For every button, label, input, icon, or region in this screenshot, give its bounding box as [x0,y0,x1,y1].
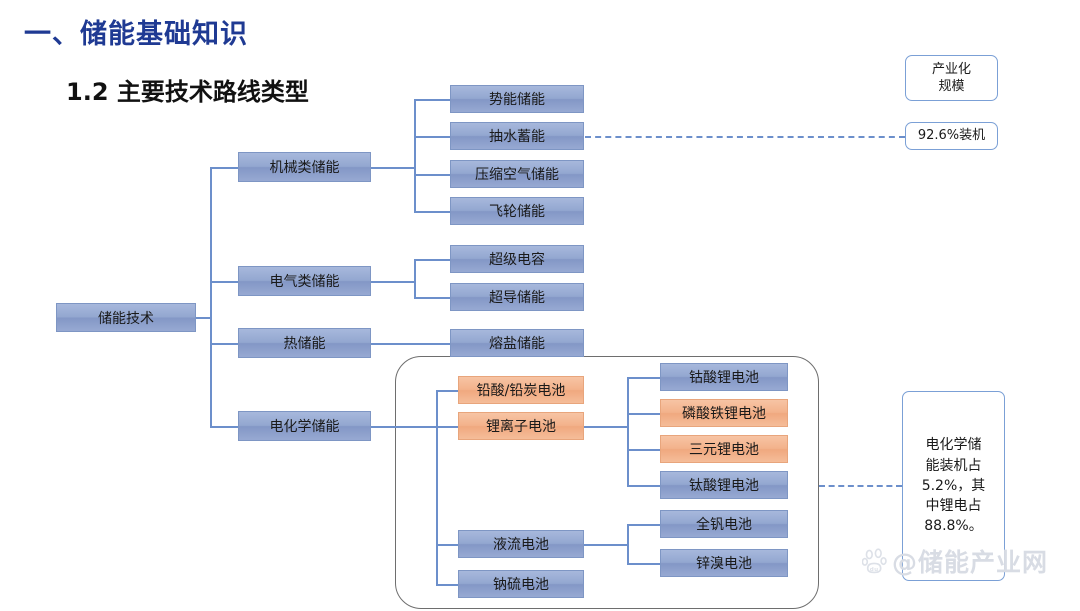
node-molten-salt-storage[interactable]: 熔盐储能 [450,329,584,357]
node-label: 飞轮储能 [489,201,545,221]
node-potential-energy-storage[interactable]: 势能储能 [450,85,584,113]
node-label: 抽水蓄能 [489,126,545,146]
connector-electrochemical-spine [436,390,438,584]
node-lithium-cobalt-oxide-battery[interactable]: 钴酸锂电池 [660,363,788,391]
connector-spine-to-thermal [210,343,238,345]
baidu-paw-icon: du [862,548,888,574]
node-label: 三元锂电池 [689,439,759,459]
connector-electrochemical-stub [371,426,437,428]
connector-electrochemical-child-4 [436,584,458,586]
node-label: 热储能 [284,333,326,353]
connector-spine-to-electrochemical [210,426,238,428]
node-label: 液流电池 [493,534,549,554]
node-mechanical-storage[interactable]: 机械类储能 [238,152,371,182]
connector-electrochemical-child-1 [436,390,458,392]
connector-lithium-spine [627,377,629,485]
connector-lithium-stub [584,426,628,428]
callout-text: 92.6%装机 [918,127,985,144]
connector-spine-to-electrical [210,281,238,283]
callout-pumped-hydro-share[interactable]: 92.6%装机 [905,122,998,150]
page-subtitle: 1.2 主要技术路线类型 [66,72,309,107]
connector-electrochemical-child-3 [436,544,458,546]
connector-mechanical-child-4 [414,211,450,213]
connector-mechanical-child-2 [414,136,450,138]
node-label: 磷酸铁锂电池 [682,403,766,423]
node-thermal-storage[interactable]: 热储能 [238,328,371,358]
node-label: 铅酸/铅炭电池 [477,380,566,400]
node-superconducting-storage[interactable]: 超导储能 [450,283,584,311]
node-label: 储能技术 [98,308,154,328]
connector-flow-child-1 [627,524,660,526]
connector-flow-child-2 [627,563,660,565]
node-label: 机械类储能 [270,157,340,177]
connector-lithium-child-3 [627,449,660,451]
node-lithium-iron-phosphate-battery[interactable]: 磷酸铁锂电池 [660,399,788,427]
connector-electrical-stub [371,281,415,283]
node-label: 电气类储能 [270,271,340,291]
node-flow-battery[interactable]: 液流电池 [458,530,584,558]
svg-text:du: du [870,567,879,573]
connector-electrochemical-child-2 [436,426,458,428]
node-label: 钠硫电池 [493,574,549,594]
connector-mechanical-child-3 [414,174,450,176]
node-pumped-hydro-storage[interactable]: 抽水蓄能 [450,122,584,150]
slide-canvas: 一、储能基础知识 1.2 主要技术路线类型 储能技术 [0,0,1080,611]
connector-electrical-child-1 [414,259,450,261]
connector-mechanical-stub [371,167,415,169]
node-lead-acid-carbon-battery[interactable]: 铅酸/铅炭电池 [458,376,584,404]
node-label: 压缩空气储能 [475,164,559,184]
connector-mechanical-spine [414,99,416,212]
node-sodium-sulfur-battery[interactable]: 钠硫电池 [458,570,584,598]
node-ternary-lithium-battery[interactable]: 三元锂电池 [660,435,788,463]
connector-spine-to-mechanical [210,167,238,169]
node-zinc-bromine-battery[interactable]: 锌溴电池 [660,549,788,577]
connector-flow-spine [627,524,629,564]
node-label: 势能储能 [489,89,545,109]
node-label: 熔盐储能 [489,333,545,353]
node-label: 锂离子电池 [486,416,556,436]
page-title: 一、储能基础知识 [24,12,248,51]
node-label: 电化学储能 [270,416,340,436]
connector-lithium-child-2 [627,413,660,415]
callout-industrial-scale[interactable]: 产业化 规模 [905,55,998,101]
node-vanadium-redox-battery[interactable]: 全钒电池 [660,510,788,538]
node-lithium-ion-battery[interactable]: 锂离子电池 [458,412,584,440]
node-label: 超导储能 [489,287,545,307]
watermark-text: @储能产业网 [892,543,1048,579]
node-compressed-air-storage[interactable]: 压缩空气储能 [450,160,584,188]
dashed-connector-pumped-hydro [585,136,905,138]
node-electrochemical-storage[interactable]: 电化学储能 [238,411,371,441]
connector-electrical-spine [414,259,416,298]
node-label: 超级电容 [489,249,545,269]
connector-lithium-child-4 [627,485,660,487]
callout-text: 产业化 规模 [932,61,971,95]
connector-mechanical-child-1 [414,99,450,101]
connector-lithium-child-1 [627,377,660,379]
dashed-connector-electrochemical-note [819,485,902,487]
node-lithium-titanate-battery[interactable]: 钛酸锂电池 [660,471,788,499]
connector-electrical-child-2 [414,297,450,299]
connector-flow-stub [584,544,628,546]
connector-thermal-to-child [371,343,450,345]
node-electrical-storage[interactable]: 电气类储能 [238,266,371,296]
node-root-energy-storage[interactable]: 储能技术 [56,303,196,332]
node-flywheel-storage[interactable]: 飞轮储能 [450,197,584,225]
node-label: 全钒电池 [696,514,752,534]
node-label: 钛酸锂电池 [689,475,759,495]
node-supercapacitor[interactable]: 超级电容 [450,245,584,273]
node-label: 锌溴电池 [696,553,752,573]
watermark: du @储能产业网 [862,543,1048,579]
node-label: 钴酸锂电池 [689,367,759,387]
connector-level1-spine [210,167,212,427]
callout-text: 电化学储 能装机占 5.2%，其 中锂电占 88.8%。 [922,435,986,536]
